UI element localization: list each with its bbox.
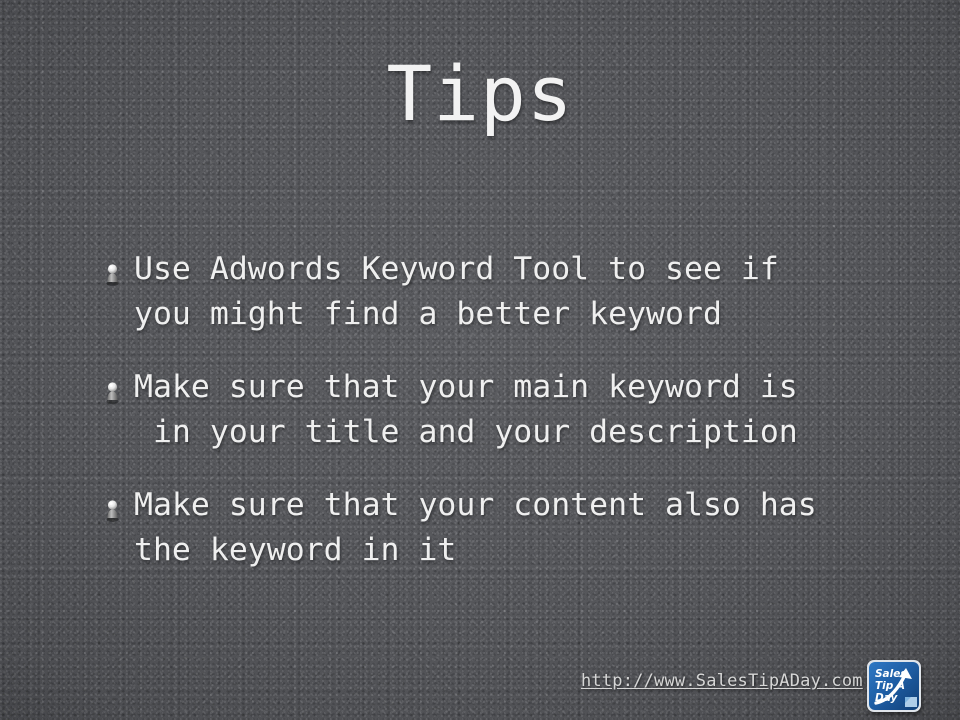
list-item: Make sure that your main keyword is in y… [102, 365, 902, 455]
presentation-slide: Tips [0, 0, 960, 720]
bullet-list: Use Adwords Keyword Tool to see if you m… [102, 247, 902, 601]
pushpin-bullet-icon [102, 495, 124, 525]
list-item-text: Use Adwords Keyword Tool to see if you m… [134, 247, 779, 337]
pushpin-bullet-icon [102, 377, 124, 407]
list-item: Use Adwords Keyword Tool to see if you m… [102, 247, 902, 337]
sales-tip-a-day-logo[interactable]: Sales Tip A Day [866, 659, 922, 713]
list-item: Make sure that your content also has the… [102, 483, 902, 573]
logo-line-3: Day [875, 692, 898, 704]
logo-line-1: Sales [875, 668, 907, 680]
list-item-text: Make sure that your content also has the… [134, 483, 817, 573]
pushpin-bullet-icon [102, 259, 124, 289]
slide-title: Tips [0, 56, 960, 132]
list-item-text: Make sure that your main keyword is in y… [134, 365, 798, 455]
logo-line-2: Tip A [875, 680, 905, 692]
footer-website-link[interactable]: http://www.SalesTipADay.com [581, 671, 863, 691]
